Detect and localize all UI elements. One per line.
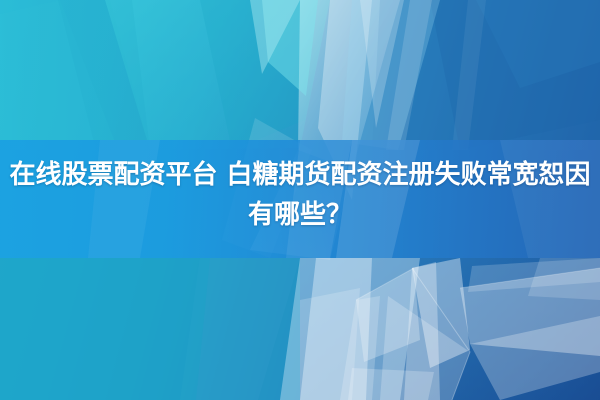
facet-ribbon-3 <box>356 268 420 362</box>
facet-ribbon-2 <box>404 262 440 400</box>
facet-wedge-2 <box>348 368 434 400</box>
facet-bottom-blue <box>300 258 600 400</box>
facet-glow-1 <box>280 258 420 400</box>
banner-image: 在线股票配资平台 白糖期货配资注册失败常宽恕因 有哪些？ <box>0 0 600 400</box>
facet-wedge-1 <box>300 288 360 400</box>
facet-teal-4 <box>58 0 150 150</box>
headline: 在线股票配资平台 白糖期货配资注册失败常宽恕因 有哪些？ <box>0 155 600 235</box>
facet-glow-2 <box>300 258 372 400</box>
facet-edge-1 <box>412 268 470 400</box>
facet-sheet-1 <box>460 268 600 356</box>
headline-line-1: 在线股票配资平台 白糖期货配资注册失败常宽恕因 <box>0 155 600 195</box>
facet-sheet-3 <box>528 258 600 300</box>
facet-edge-3 <box>460 268 600 288</box>
facet-lightblue-1 <box>342 0 440 150</box>
facet-teal-5 <box>200 0 330 150</box>
facet-teal-2 <box>105 0 330 150</box>
facet-cyan-1 <box>262 0 318 96</box>
facet-streak-2 <box>452 0 486 150</box>
facet-streak-1 <box>386 0 432 150</box>
facet-teal-3 <box>0 0 118 150</box>
facet-blue-2 <box>430 0 600 150</box>
facet-ribbon-4 <box>340 296 380 400</box>
facet-teal-1 <box>0 0 150 150</box>
facet-white-soft-2 <box>180 258 300 400</box>
facet-sheet-4 <box>468 258 600 292</box>
facet-edge-2 <box>356 268 414 300</box>
facet-blue-1 <box>372 0 600 150</box>
facet-white-right-1 <box>360 0 404 128</box>
facet-blue-3 <box>476 0 600 88</box>
headline-line-2: 有哪些？ <box>0 195 600 235</box>
facet-sheet-2 <box>470 316 600 400</box>
facet-bottom-teal <box>0 258 300 400</box>
facet-bottom-teal-2 <box>0 258 210 400</box>
facet-ribbon-1 <box>412 258 470 368</box>
facet-ribbon-5 <box>380 296 470 400</box>
facet-cyan-2 <box>250 0 300 74</box>
